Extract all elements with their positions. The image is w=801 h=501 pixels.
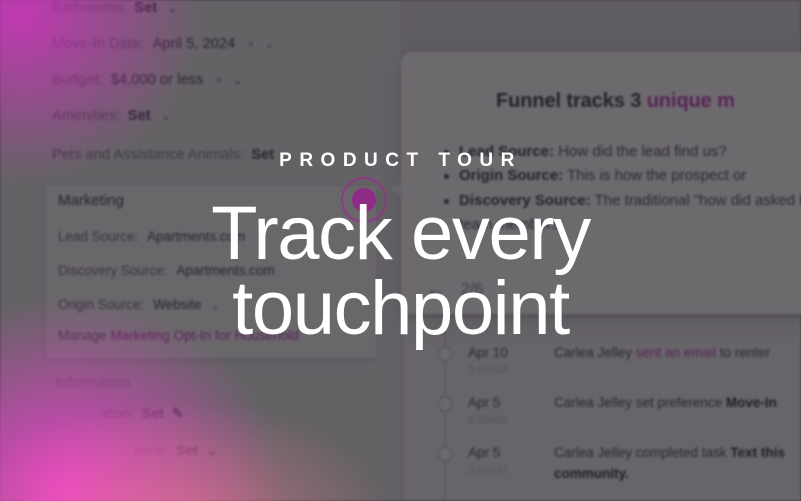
product-tour-overlay-screen: Bathrooms: Set ⌄ Move-In Date: April 5, …: [0, 0, 801, 501]
page-title: Track every touchpoint: [0, 196, 801, 346]
headline-line-2: touchpoint: [0, 271, 801, 346]
headline-line-1: Track every: [0, 196, 801, 271]
eyebrow-label: PRODUCT TOUR: [0, 150, 801, 172]
